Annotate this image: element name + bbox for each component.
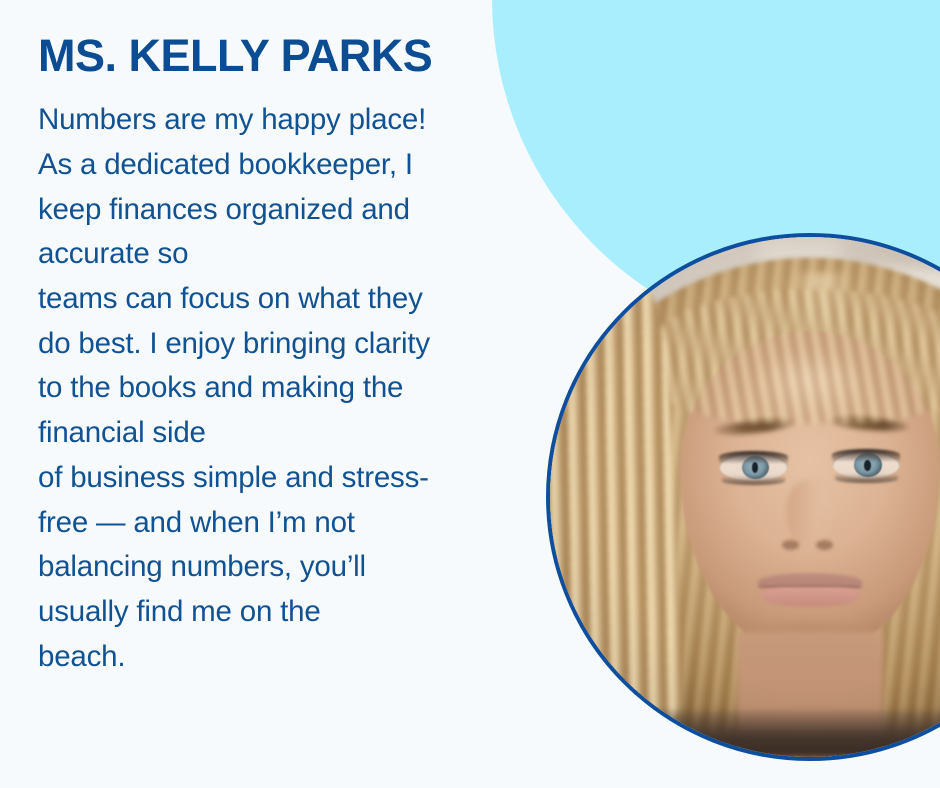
bio-line: As a dedicated bookkeeper, I <box>38 143 558 188</box>
bio-line: accurate so <box>38 232 558 277</box>
bio-line: of business simple and stress- <box>38 456 558 501</box>
portrait-photo <box>550 237 940 757</box>
bio-line: beach. <box>38 635 558 680</box>
bio-line: to the books and making the <box>38 366 558 411</box>
bio-line: keep finances organized and <box>38 188 558 233</box>
bio-line: free — and when I’m not <box>38 501 558 546</box>
bio-line: usually find me on the <box>38 590 558 635</box>
profile-card: MS. KELLY PARKS Numbers are my happy pla… <box>0 0 940 788</box>
bio-line: financial side <box>38 411 558 456</box>
bio-line: do best. I enjoy bringing clarity <box>38 322 558 367</box>
bio-line: balancing numbers, you’ll <box>38 545 558 590</box>
bio-line: Numbers are my happy place! <box>38 98 558 143</box>
bio-paragraph: Numbers are my happy place! As a dedicat… <box>38 98 558 679</box>
bio-line: teams can focus on what they <box>38 277 558 322</box>
page-title: MS. KELLY PARKS <box>38 30 558 82</box>
photo-vignette <box>550 237 940 757</box>
avatar <box>546 233 940 761</box>
text-column: MS. KELLY PARKS Numbers are my happy pla… <box>38 30 558 679</box>
